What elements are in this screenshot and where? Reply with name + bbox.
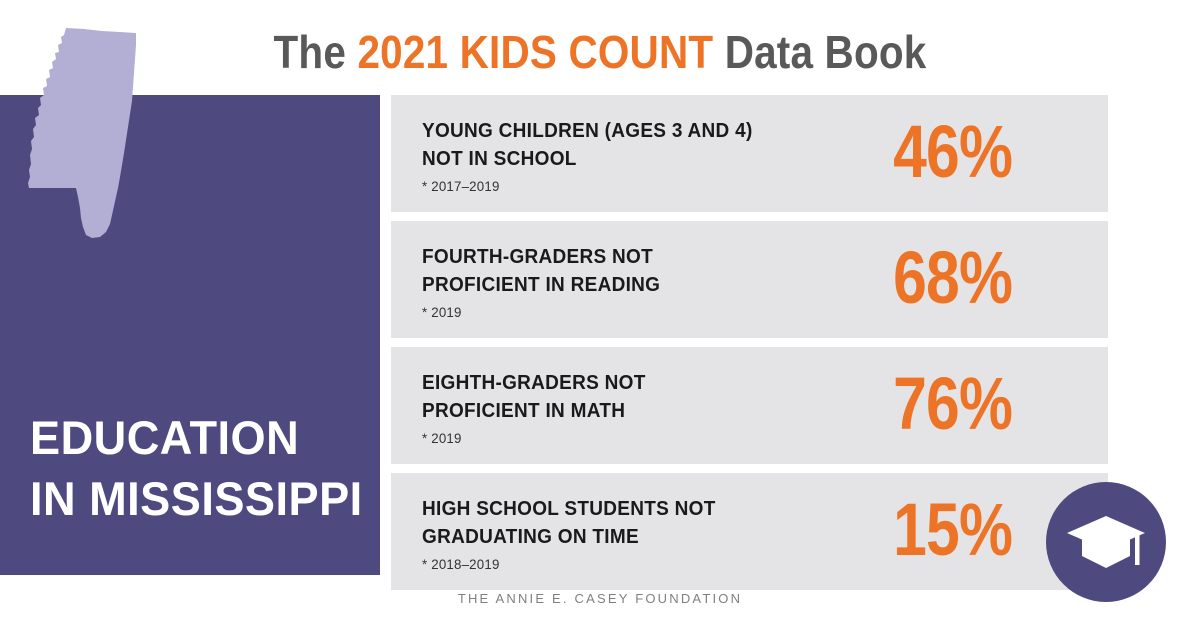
stat-value: 68% bbox=[893, 235, 1012, 321]
stat-note: * 2018–2019 bbox=[422, 556, 869, 573]
stat-note: * 2019 bbox=[422, 304, 869, 321]
stat-note: * 2019 bbox=[422, 430, 869, 447]
stat-label-line-1: FOURTH-GRADERS NOT bbox=[422, 243, 869, 271]
stat-value: 46% bbox=[893, 109, 1012, 195]
infographic-canvas: The 2021 KIDS COUNT Data Book EDUCATION … bbox=[0, 0, 1200, 628]
stat-row: FOURTH-GRADERS NOT PROFICIENT IN READING… bbox=[391, 221, 1108, 338]
stat-text-block: HIGH SCHOOL STUDENTS NOT GRADUATING ON T… bbox=[422, 495, 892, 573]
stat-label: YOUNG CHILDREN (AGES 3 AND 4) NOT IN SCH… bbox=[422, 117, 869, 173]
title-highlight: 2021 KIDS COUNT bbox=[357, 26, 713, 78]
stat-row: EIGHTH-GRADERS NOT PROFICIENT IN MATH * … bbox=[391, 347, 1108, 464]
stat-row: HIGH SCHOOL STUDENTS NOT GRADUATING ON T… bbox=[391, 473, 1108, 590]
stat-label-line-1: YOUNG CHILDREN (AGES 3 AND 4) bbox=[422, 117, 869, 145]
stat-label: HIGH SCHOOL STUDENTS NOT GRADUATING ON T… bbox=[422, 495, 869, 551]
graduation-badge bbox=[1046, 482, 1166, 602]
stat-text-block: EIGHTH-GRADERS NOT PROFICIENT IN MATH * … bbox=[422, 369, 892, 447]
stat-note: * 2017–2019 bbox=[422, 178, 869, 195]
stat-label-line-1: EIGHTH-GRADERS NOT bbox=[422, 369, 869, 397]
stat-label-line-2: PROFICIENT IN READING bbox=[422, 271, 869, 299]
stat-label-line-2: NOT IN SCHOOL bbox=[422, 145, 869, 173]
stat-label-line-1: HIGH SCHOOL STUDENTS NOT bbox=[422, 495, 869, 523]
stat-value: 15% bbox=[893, 487, 1012, 573]
panel-heading-line-1: EDUCATION bbox=[30, 407, 361, 468]
stat-row: YOUNG CHILDREN (AGES 3 AND 4) NOT IN SCH… bbox=[391, 95, 1108, 212]
stat-label: FOURTH-GRADERS NOT PROFICIENT IN READING bbox=[422, 243, 869, 299]
mississippi-state-map-icon bbox=[28, 25, 158, 240]
footer-attribution: THE ANNIE E. CASEY FOUNDATION bbox=[0, 591, 1200, 606]
stat-label-line-2: PROFICIENT IN MATH bbox=[422, 397, 869, 425]
title-suffix: Data Book bbox=[713, 26, 926, 78]
stat-text-block: FOURTH-GRADERS NOT PROFICIENT IN READING… bbox=[422, 243, 892, 321]
panel-heading: EDUCATION IN MISSISSIPPI bbox=[30, 407, 361, 529]
stat-value: 76% bbox=[893, 361, 1012, 447]
title-prefix: The bbox=[274, 26, 358, 78]
graduation-cap-icon bbox=[1066, 512, 1146, 572]
stat-label-line-2: GRADUATING ON TIME bbox=[422, 523, 869, 551]
panel-heading-line-2: IN MISSISSIPPI bbox=[30, 468, 361, 529]
stat-text-block: YOUNG CHILDREN (AGES 3 AND 4) NOT IN SCH… bbox=[422, 117, 892, 195]
stat-label: EIGHTH-GRADERS NOT PROFICIENT IN MATH bbox=[422, 369, 869, 425]
stats-list: YOUNG CHILDREN (AGES 3 AND 4) NOT IN SCH… bbox=[391, 95, 1108, 599]
page-title: The 2021 KIDS COUNT Data Book bbox=[72, 24, 1128, 80]
